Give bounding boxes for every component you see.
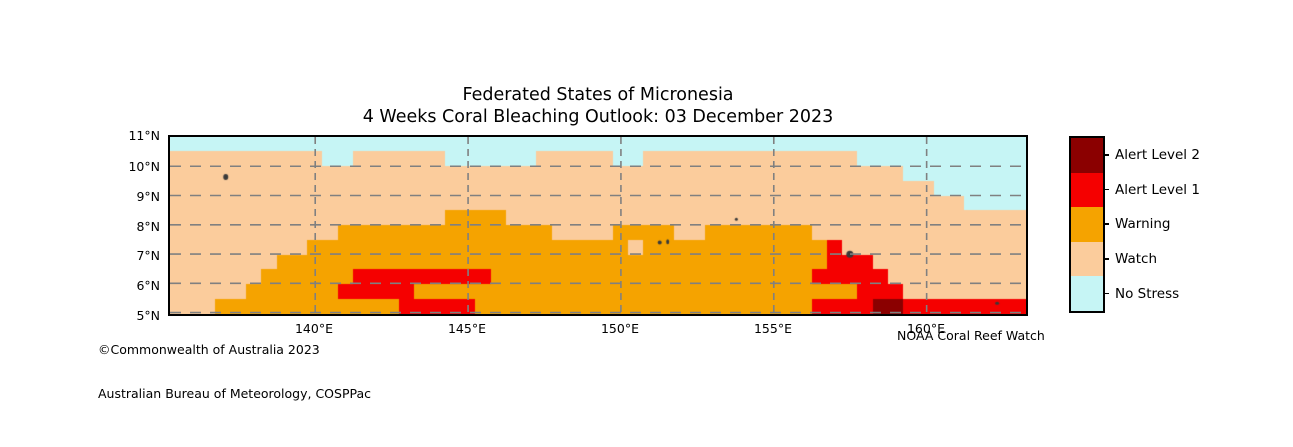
title-line-2: 4 Weeks Coral Bleaching Outlook: 03 Dece… bbox=[168, 106, 1028, 128]
xtick-label-155e: 155°E bbox=[728, 321, 818, 336]
ytick-label-9n: 9°N bbox=[96, 189, 160, 204]
attribution-right: NOAA Coral Reef Watch bbox=[897, 328, 1045, 343]
map-plot-area[interactable] bbox=[168, 135, 1028, 316]
attribution-left: ©Commonwealth of Australia 2023 Australi… bbox=[98, 314, 371, 430]
ytick-label-11n: 11°N bbox=[96, 128, 160, 143]
legend-swatch-no-stress[interactable]: No Stress bbox=[1071, 276, 1103, 311]
legend-tick-alert-level-2 bbox=[1103, 154, 1109, 156]
legend-swatch-alert-level-2[interactable]: Alert Level 2 bbox=[1071, 138, 1103, 173]
page-title: Federated States of Micronesia 4 Weeks C… bbox=[168, 84, 1028, 128]
legend-label-warning: Warning bbox=[1115, 216, 1171, 232]
legend-colorbar[interactable]: Alert Level 2 Alert Level 1 Warning Watc… bbox=[1069, 136, 1105, 313]
ytick-label-10n: 10°N bbox=[96, 159, 160, 174]
legend-tick-warning bbox=[1103, 223, 1109, 225]
attribution-agency: Australian Bureau of Meteorology, COSPPa… bbox=[98, 387, 371, 402]
title-line-1: Federated States of Micronesia bbox=[168, 84, 1028, 106]
legend-label-alert-level-2: Alert Level 2 bbox=[1115, 147, 1200, 163]
coral-bleaching-outlook-figure: Federated States of Micronesia 4 Weeks C… bbox=[0, 0, 1293, 447]
legend-label-alert-level-1: Alert Level 1 bbox=[1115, 182, 1200, 198]
coral-bleaching-heatmap bbox=[170, 137, 1026, 314]
xtick-label-145e: 145°E bbox=[422, 321, 512, 336]
legend-swatch-warning[interactable]: Warning bbox=[1071, 207, 1103, 242]
ytick-label-8n: 8°N bbox=[96, 219, 160, 234]
attribution-copyright: ©Commonwealth of Australia 2023 bbox=[98, 343, 371, 358]
legend-label-no-stress: No Stress bbox=[1115, 286, 1179, 302]
legend-swatch-watch[interactable]: Watch bbox=[1071, 242, 1103, 277]
ytick-label-7n: 7°N bbox=[96, 248, 160, 263]
legend-swatch-alert-level-1[interactable]: Alert Level 1 bbox=[1071, 173, 1103, 208]
xtick-label-150e: 150°E bbox=[575, 321, 665, 336]
legend-tick-no-stress bbox=[1103, 293, 1109, 295]
legend-tick-watch bbox=[1103, 258, 1109, 260]
legend-label-watch: Watch bbox=[1115, 251, 1157, 267]
legend-tick-alert-level-1 bbox=[1103, 189, 1109, 191]
ytick-label-6n: 6°N bbox=[96, 278, 160, 293]
